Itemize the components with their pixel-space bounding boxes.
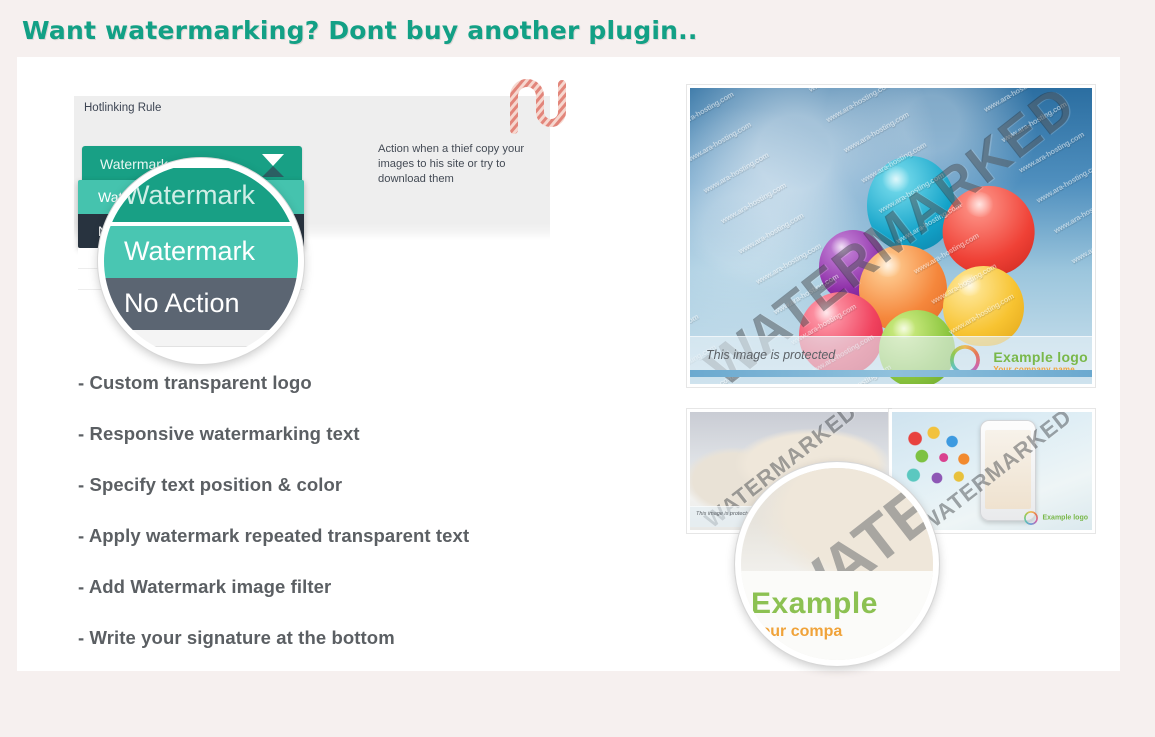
- magnified-photo-content: WATERMARKED Example Your compa: [735, 462, 939, 663]
- balloon-highlight: [956, 274, 983, 296]
- phone-logo: Example logo: [1024, 509, 1088, 527]
- feature-item: - Apply watermark repeated transparent t…: [78, 525, 638, 547]
- balloon-highlight: [812, 301, 841, 324]
- balloon-highlight: [830, 237, 853, 257]
- magnified-select-button[interactable]: Watermark: [98, 168, 304, 222]
- balloon-yellow: [943, 266, 1023, 346]
- magnified-option-no-action-label: No Action: [124, 288, 240, 319]
- page-title: Want watermarking? Dont buy another plug…: [22, 16, 698, 45]
- magnified-option-no-action[interactable]: No Action: [98, 278, 304, 330]
- feature-item: - Add Watermark image filter: [78, 576, 638, 598]
- balloon-highlight: [962, 188, 999, 220]
- hotlinking-rule-label: Hotlinking Rule: [84, 102, 161, 114]
- balloon-highlight: [881, 166, 911, 193]
- protected-bottom-bar: This image is protected Example logo You…: [690, 336, 1092, 377]
- candy-cane-icon: [500, 68, 570, 136]
- slide-canvas: Want watermarking? Dont buy another plug…: [0, 0, 1155, 737]
- magnified-select-value: Watermark: [124, 180, 255, 211]
- bottom-strip: [690, 370, 1092, 377]
- magnified-option-watermark[interactable]: Watermark: [98, 226, 304, 278]
- company-logo-title: Example logo: [993, 349, 1088, 365]
- magnifier-dropdown: Watermark Watermark No Action: [98, 158, 304, 364]
- feature-list: - Custom transparent logo - Responsive w…: [78, 372, 638, 678]
- magnified-logo-bar: Example Your compa: [735, 571, 939, 663]
- protected-notice: This image is protected: [706, 348, 835, 362]
- magnified-logo-subtitle: Your compa: [751, 623, 878, 641]
- hotlinking-rule-help-text: Action when a thief copy your images to …: [378, 142, 548, 187]
- balloon-highlight: [873, 253, 903, 277]
- magnified-company-logo: Example Your compa: [751, 587, 878, 641]
- balloons-photo: www.ara-hosting.com www.ara-hosting.com …: [690, 88, 1092, 384]
- phone-screen: [985, 430, 1031, 509]
- feature-item: - Specify text position & color: [78, 474, 638, 496]
- magnifier-photo: WATERMARKED Example Your compa: [735, 462, 939, 666]
- feature-item: - Custom transparent logo: [78, 372, 638, 394]
- company-logo-icon: [1024, 511, 1038, 525]
- company-logo-title: Example logo: [1042, 514, 1088, 521]
- magnified-logo-title: Example: [751, 587, 878, 621]
- feature-item: - Responsive watermarking text: [78, 423, 638, 445]
- magnified-empty-row: [98, 330, 304, 347]
- magnified-option-watermark-label: Watermark: [124, 236, 255, 267]
- magnifier-dropdown-content: Watermark Watermark No Action: [104, 164, 298, 358]
- feature-item: - Write your signature at the bottom: [78, 627, 638, 649]
- smartphone-illustration: [980, 420, 1036, 521]
